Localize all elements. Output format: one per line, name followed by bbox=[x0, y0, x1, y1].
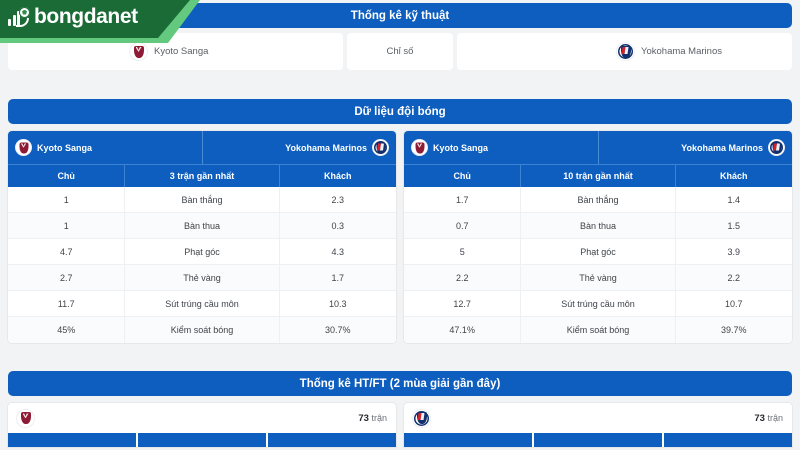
cell-away: 4.3 bbox=[280, 239, 396, 264]
brand-name: bongdanet bbox=[34, 6, 138, 27]
cell-metric: Bàn thắng bbox=[124, 187, 279, 212]
cell-metric: Phạt góc bbox=[520, 239, 675, 264]
cell-home: 1 bbox=[8, 213, 124, 238]
kyoto-sanga-crest-icon bbox=[412, 140, 427, 155]
cell-metric: Kiểm soát bóng bbox=[124, 317, 279, 343]
cell-metric: Thẻ vàng bbox=[124, 265, 279, 290]
yokohama-marinos-crest-icon bbox=[373, 140, 388, 155]
table-row: 11.7 Sút trúng cầu môn 10.3 bbox=[8, 291, 396, 317]
htft-count-unit: trận bbox=[767, 413, 783, 423]
tech-home-team-name: Kyoto Sanga bbox=[154, 46, 208, 57]
cell-home: 1 bbox=[8, 187, 124, 212]
cell-away: 1.4 bbox=[676, 187, 792, 212]
htft-col-3 bbox=[268, 433, 396, 447]
yokohama-marinos-crest-icon bbox=[617, 43, 634, 60]
htft-stats-title: Thống kê HT/FT (2 mùa giải gần đây) bbox=[8, 371, 792, 396]
page-root: bongdanet Thống kê kỹ thuật Kyoto Sanga … bbox=[0, 0, 800, 450]
col-header-away: Khách bbox=[676, 165, 792, 187]
cell-home: 47.1% bbox=[404, 317, 520, 343]
logo-content: bongdanet bbox=[8, 6, 138, 27]
table-row: 2.7 Thẻ vàng 1.7 bbox=[8, 265, 396, 291]
col-header-away: Khách bbox=[280, 165, 396, 187]
card-column-headers: Chủ 10 trận gần nhất Khách bbox=[404, 164, 792, 187]
cell-home: 2.7 bbox=[8, 265, 124, 290]
table-row: 0.7 Bàn thua 1.5 bbox=[404, 213, 792, 239]
cell-metric: Bàn thua bbox=[124, 213, 279, 238]
cell-home: 1.7 bbox=[404, 187, 520, 212]
kyoto-sanga-crest-icon bbox=[130, 43, 147, 60]
htft-match-count: 73 trận bbox=[754, 413, 783, 424]
table-row: 1 Bàn thua 0.3 bbox=[8, 213, 396, 239]
htft-card: 73 trận bbox=[8, 403, 396, 447]
cell-home: 0.7 bbox=[404, 213, 520, 238]
htft-card-header: 73 trận bbox=[8, 403, 396, 433]
card-team-header: Kyoto Sanga Yokohama Marinos bbox=[404, 131, 792, 164]
cell-home: 2.2 bbox=[404, 265, 520, 290]
htft-col-2 bbox=[534, 433, 662, 447]
htft-column-headers bbox=[404, 433, 792, 447]
htft-column-headers bbox=[8, 433, 396, 447]
cell-away: 1.7 bbox=[280, 265, 396, 290]
table-row: 1 Bàn thắng 2.3 bbox=[8, 187, 396, 213]
card-column-headers: Chủ 3 trận gần nhất Khách bbox=[8, 164, 396, 187]
cell-away: 0.3 bbox=[280, 213, 396, 238]
htft-card: 73 trận bbox=[404, 403, 792, 447]
cell-metric: Bàn thắng bbox=[520, 187, 675, 212]
kyoto-sanga-crest-icon bbox=[17, 410, 34, 427]
table-row: 1.7 Bàn thắng 1.4 bbox=[404, 187, 792, 213]
cell-metric: Thẻ vàng bbox=[520, 265, 675, 290]
cell-metric: Sút trúng cầu môn bbox=[124, 291, 279, 316]
htft-card-header: 73 trận bbox=[404, 403, 792, 433]
cell-metric: Phạt góc bbox=[124, 239, 279, 264]
card-away-team-name: Yokohama Marinos bbox=[681, 143, 763, 153]
cell-home: 12.7 bbox=[404, 291, 520, 316]
htft-cards: 73 trận 73 trận bbox=[8, 403, 792, 447]
table-row: 47.1% Kiểm soát bóng 39.7% bbox=[404, 317, 792, 343]
htft-match-count: 73 trận bbox=[358, 413, 387, 424]
col-header-metric: 10 trận gần nhất bbox=[520, 165, 675, 187]
table-row: 45% Kiểm soát bóng 30.7% bbox=[8, 317, 396, 343]
cell-away: 1.5 bbox=[676, 213, 792, 238]
col-header-home: Chủ bbox=[404, 165, 520, 187]
cell-away: 3.9 bbox=[676, 239, 792, 264]
chart-ball-logo-icon bbox=[8, 7, 30, 27]
htft-col-1 bbox=[8, 433, 136, 447]
site-logo[interactable]: bongdanet bbox=[0, 0, 200, 43]
col-header-home: Chủ bbox=[8, 165, 124, 187]
tech-away-team-cell[interactable]: Yokohama Marinos bbox=[457, 33, 792, 70]
card-away-team-name: Yokohama Marinos bbox=[285, 143, 367, 153]
tech-metric-label-cell: Chỉ số bbox=[347, 33, 453, 70]
card-away-team[interactable]: Yokohama Marinos bbox=[202, 131, 397, 164]
cell-home: 11.7 bbox=[8, 291, 124, 316]
card-home-team[interactable]: Kyoto Sanga bbox=[8, 131, 202, 164]
cell-away: 2.3 bbox=[280, 187, 396, 212]
htft-count-value: 73 bbox=[358, 413, 369, 424]
cell-away: 2.2 bbox=[676, 265, 792, 290]
card-away-team[interactable]: Yokohama Marinos bbox=[598, 131, 793, 164]
cell-away: 39.7% bbox=[676, 317, 792, 343]
team-data-card: Kyoto Sanga Yokohama Marinos Chủ 3 trận … bbox=[8, 131, 396, 343]
table-row: 12.7 Sút trúng cầu môn 10.7 bbox=[404, 291, 792, 317]
htft-count-unit: trận bbox=[371, 413, 387, 423]
htft-col-2 bbox=[138, 433, 266, 447]
cell-away: 10.7 bbox=[676, 291, 792, 316]
yokohama-marinos-crest-icon bbox=[769, 140, 784, 155]
card-home-team-name: Kyoto Sanga bbox=[37, 143, 92, 153]
table-row: 4.7 Phạt góc 4.3 bbox=[8, 239, 396, 265]
yokohama-marinos-crest-icon bbox=[413, 410, 430, 427]
htft-col-1 bbox=[404, 433, 532, 447]
cell-metric: Bàn thua bbox=[520, 213, 675, 238]
cell-metric: Sút trúng cầu môn bbox=[520, 291, 675, 316]
col-header-metric: 3 trận gần nhất bbox=[124, 165, 279, 187]
htft-col-3 bbox=[664, 433, 792, 447]
card-home-team[interactable]: Kyoto Sanga bbox=[404, 131, 598, 164]
card-home-team-name: Kyoto Sanga bbox=[433, 143, 488, 153]
cell-home: 5 bbox=[404, 239, 520, 264]
cell-home: 45% bbox=[8, 317, 124, 343]
table-row: 5 Phạt góc 3.9 bbox=[404, 239, 792, 265]
cell-home: 4.7 bbox=[8, 239, 124, 264]
cell-away: 30.7% bbox=[280, 317, 396, 343]
team-data-card: Kyoto Sanga Yokohama Marinos Chủ 10 trận… bbox=[404, 131, 792, 343]
team-data-cards: Kyoto Sanga Yokohama Marinos Chủ 3 trận … bbox=[8, 131, 792, 343]
table-row: 2.2 Thẻ vàng 2.2 bbox=[404, 265, 792, 291]
kyoto-sanga-crest-icon bbox=[16, 140, 31, 155]
card-team-header: Kyoto Sanga Yokohama Marinos bbox=[8, 131, 396, 164]
cell-metric: Kiểm soát bóng bbox=[520, 317, 675, 343]
tech-away-team-name: Yokohama Marinos bbox=[641, 46, 722, 57]
htft-count-value: 73 bbox=[754, 413, 765, 424]
team-data-title: Dữ liệu đội bóng bbox=[8, 99, 792, 124]
cell-away: 10.3 bbox=[280, 291, 396, 316]
